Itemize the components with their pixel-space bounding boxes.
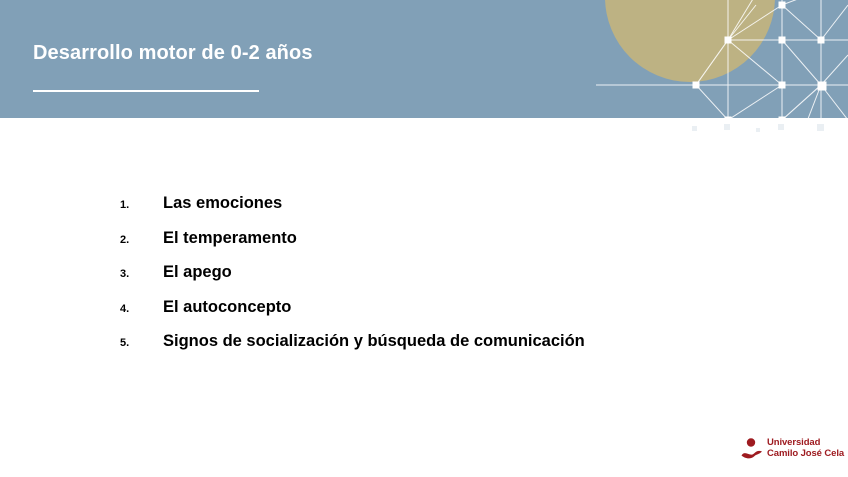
list-item-number: 4. — [120, 299, 146, 315]
page-title: Desarrollo motor de 0-2 años — [33, 42, 313, 65]
university-logo-text: Universidad Camilo José Cela — [767, 437, 844, 459]
logo-line-1: Universidad — [767, 437, 844, 448]
list-item-label: El autoconcepto — [163, 299, 291, 316]
list-item-number: 2. — [120, 230, 146, 246]
list-item: 5. Signos de socialización y búsqueda de… — [0, 324, 848, 359]
logo-line-2: Camilo José Cela — [767, 448, 844, 459]
list-item-number: 5. — [120, 333, 146, 349]
university-logo: Universidad Camilo José Cela — [741, 433, 841, 463]
list-item-number: 3. — [120, 264, 146, 280]
list-item-label: Signos de socialización y búsqueda de co… — [163, 333, 585, 350]
network-node-graphic — [596, 0, 848, 118]
list-item: 2. El temperamento — [0, 221, 848, 256]
content-list: 1. Las emociones 2. El temperamento 3. E… — [0, 186, 848, 359]
list-item: 1. Las emociones — [0, 186, 848, 221]
list-item: 4. El autoconcepto — [0, 290, 848, 325]
network-graphic-fade — [596, 118, 848, 144]
title-underline-rule — [33, 90, 259, 92]
header-band: Desarrollo motor de 0-2 años — [0, 0, 848, 118]
ucjc-logo-mark-icon — [741, 435, 763, 461]
list-item: 3. El apego — [0, 255, 848, 290]
list-item-label: Las emociones — [163, 195, 282, 212]
list-item-label: El temperamento — [163, 230, 297, 247]
list-item-number: 1. — [120, 195, 146, 211]
list-item-label: El apego — [163, 264, 232, 281]
slide-canvas: Desarrollo motor de 0-2 años 1. Las emoc… — [0, 0, 848, 477]
